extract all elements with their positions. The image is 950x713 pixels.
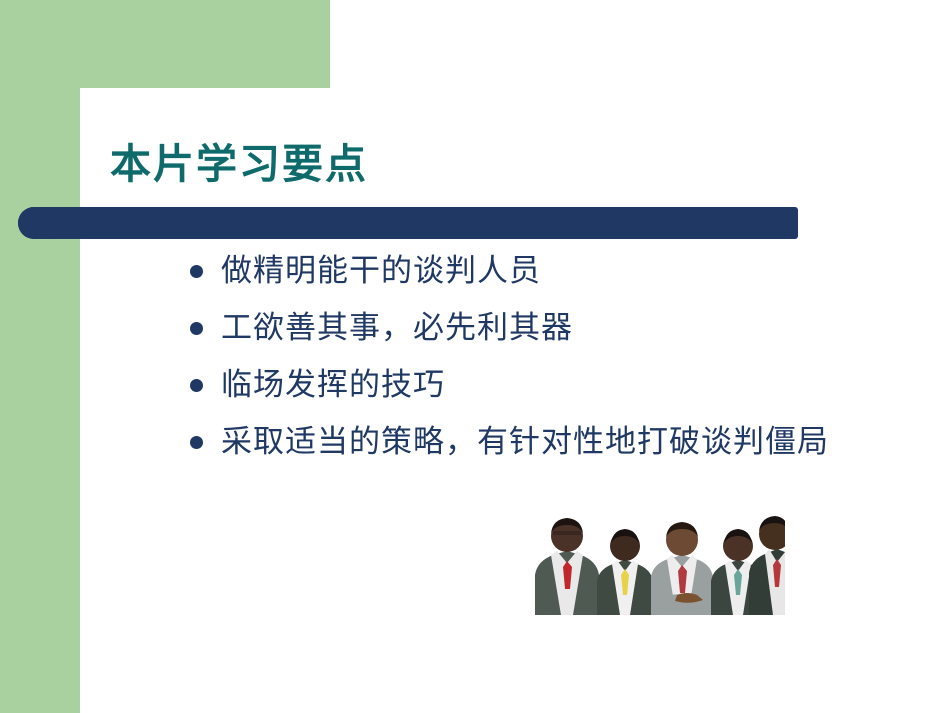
list-item: 临场发挥的技巧 (190, 363, 830, 407)
list-item-label: 做精明能干的谈判人员 (221, 249, 541, 293)
bullet-dot-icon (190, 322, 203, 335)
business-people-group-icon (527, 503, 785, 615)
business-people-clipart (527, 503, 785, 615)
bullet-dot-icon (190, 265, 203, 278)
list-item: 工欲善其事，必先利其器 (190, 306, 830, 350)
green-side-strip (0, 0, 80, 713)
list-item-label: 临场发挥的技巧 (221, 363, 445, 407)
list-item-label: 采取适当的策略，有针对性地打破谈判僵局 (221, 420, 829, 464)
list-item: 采取适当的策略，有针对性地打破谈判僵局 (190, 420, 830, 464)
presentation-slide: 本片学习要点 做精明能干的谈判人员 工欲善其事，必先利其器 临场发挥的技巧 采取… (0, 0, 950, 713)
bullet-dot-icon (190, 379, 203, 392)
list-item: 做精明能干的谈判人员 (190, 249, 830, 293)
title-divider-bar (18, 207, 798, 239)
bullet-dot-icon (190, 436, 203, 449)
title-divider-cap (18, 207, 60, 239)
bullet-list: 做精明能干的谈判人员 工欲善其事，必先利其器 临场发挥的技巧 采取适当的策略，有… (190, 249, 830, 477)
list-item-label: 工欲善其事，必先利其器 (221, 306, 573, 350)
page-title: 本片学习要点 (110, 130, 368, 190)
